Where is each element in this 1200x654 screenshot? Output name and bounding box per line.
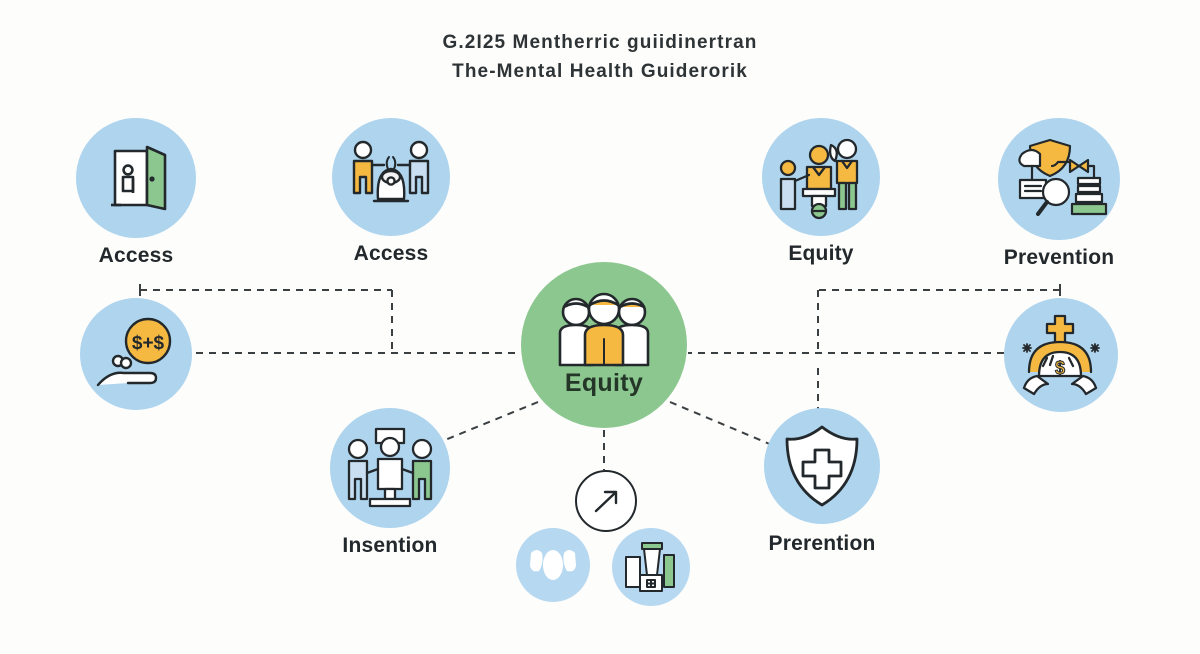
node-prevention-shield[interactable]: Prevention — [998, 118, 1120, 240]
node-label-equity-group: Equity — [788, 242, 853, 266]
arrow-up-right-icon[interactable] — [575, 470, 637, 532]
shield-cross-icon — [764, 408, 880, 524]
shield-magnifier-documents-icon — [998, 118, 1120, 240]
svg-text:$+$: $+$ — [132, 333, 165, 354]
hand-coin-icon: $+$ — [80, 298, 192, 410]
node-label-access-door: Access — [99, 244, 174, 268]
node-prerention-shield[interactable]: Prerention — [764, 408, 880, 524]
node-access-people[interactable]: Access — [332, 118, 450, 236]
node-label-access-people: Access — [354, 242, 429, 266]
hands-dome-dollar-icon: $ — [1004, 298, 1118, 412]
hub-label: Equity — [565, 369, 643, 398]
hub-node-equity[interactable]: Equity — [521, 262, 687, 428]
three-people-podium-icon — [330, 408, 450, 528]
mini-node-supplies[interactable] — [612, 528, 690, 606]
node-access-door[interactable]: Access — [76, 118, 196, 238]
node-funding-dome[interactable]: $ — [1004, 298, 1118, 412]
three-people-icon — [552, 293, 656, 367]
node-label-insention: Insention — [342, 534, 437, 558]
node-equity-group[interactable]: Equity — [762, 118, 880, 236]
node-insention-people[interactable]: Insention — [330, 408, 450, 528]
open-door-person-icon — [76, 118, 196, 238]
mini-node-mask[interactable] — [516, 528, 590, 602]
node-label-prevention-shield: Prevention — [1004, 246, 1115, 270]
node-label-prerention: Prerention — [768, 532, 875, 556]
mask-icon — [516, 528, 590, 602]
infographic-canvas: G.2I25 Mentherric guiidinertran The-Ment… — [0, 0, 1200, 654]
node-funding-hand[interactable]: $+$ — [80, 298, 192, 410]
two-people-vessel-icon — [332, 118, 450, 236]
hub-disc: Equity — [521, 262, 687, 428]
svg-text:$: $ — [1055, 358, 1065, 378]
people-group-icon — [762, 118, 880, 236]
supplies-box-icon — [612, 528, 690, 606]
